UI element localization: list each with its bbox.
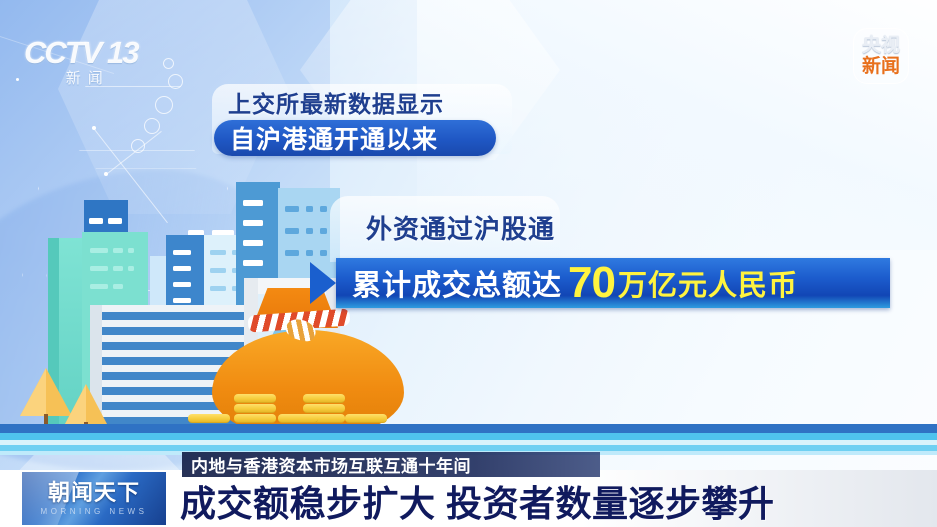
window [89, 218, 103, 224]
window [210, 250, 226, 255]
window [90, 266, 108, 271]
window [285, 250, 299, 256]
cctv13-logo: CCTV 13 新闻 [24, 36, 137, 88]
window [320, 206, 327, 212]
window [285, 206, 299, 212]
app-logo-bottom-text: 新闻 [862, 56, 900, 77]
coin [188, 414, 230, 423]
coin [345, 414, 387, 423]
callout-two-number: 70 [568, 258, 615, 308]
coin [303, 404, 345, 413]
coin [278, 414, 318, 423]
cctv-news-app-logo: 央视 新闻 [853, 28, 909, 84]
callout-one-pill-text: 自沪港通开通以来 [230, 120, 438, 156]
topic-bar: 内地与香港资本市场互联互通十年间 [182, 452, 600, 477]
window [113, 284, 123, 289]
tree-right-top-light [65, 384, 86, 424]
ground-line-cyan [0, 433, 937, 440]
window [306, 228, 313, 234]
program-logo: 朝闻天下 MORNING NEWS [22, 472, 166, 525]
coin [303, 394, 345, 403]
cctv13-logo-subtext: 新闻 [24, 70, 137, 88]
window [306, 206, 313, 212]
window [90, 248, 108, 253]
coin [234, 404, 276, 413]
coin [234, 394, 276, 403]
window [108, 218, 122, 224]
window [210, 268, 226, 273]
window [173, 282, 191, 287]
topic-text: 内地与香港资本市场互联互通十年间 [191, 452, 471, 477]
callout-two-unit: 万亿元人民币 [618, 262, 798, 304]
window [90, 284, 108, 289]
headline: 成交额稳步扩大 投资者数量逐步攀升 [180, 478, 775, 524]
window [243, 200, 263, 206]
callout-two-kicker: 外资通过沪股通 [366, 214, 555, 245]
window [210, 286, 226, 291]
window [243, 220, 263, 226]
window [173, 266, 191, 271]
window [320, 250, 327, 256]
callout-two-bar: 累计成交总额达 70 万亿元人民币 [336, 258, 890, 308]
ground-line-navy [0, 424, 937, 433]
coin [234, 414, 276, 423]
program-name: 朝闻天下 [48, 480, 140, 506]
callout-two-prefix: 累计成交总额达 [352, 262, 562, 304]
app-logo-top-text: 央视 [862, 35, 900, 56]
window [113, 266, 123, 271]
window [243, 260, 263, 266]
callout-two-arrow-icon [310, 262, 336, 304]
tree-left-top-light [20, 368, 46, 416]
window [243, 240, 263, 246]
headline-text: 成交额稳步扩大 投资者数量逐步攀升 [180, 475, 775, 527]
window [173, 298, 191, 303]
window [320, 228, 327, 234]
window [128, 266, 134, 271]
broadcast-screenshot: CCTV 13 新闻 央视 新闻 上交所最新数据显示 自沪港通开通以来 外资通过… [0, 0, 937, 527]
callout-one-kicker: 上交所最新数据显示 [228, 90, 444, 118]
callout-one-pill: 自沪港通开通以来 [214, 120, 496, 156]
window [128, 248, 134, 253]
window [113, 248, 123, 253]
window [173, 250, 191, 255]
program-name-english: MORNING NEWS [41, 506, 148, 518]
cctv13-logo-text: CCTV 13 [24, 36, 137, 70]
window [285, 228, 299, 234]
window [306, 250, 313, 256]
